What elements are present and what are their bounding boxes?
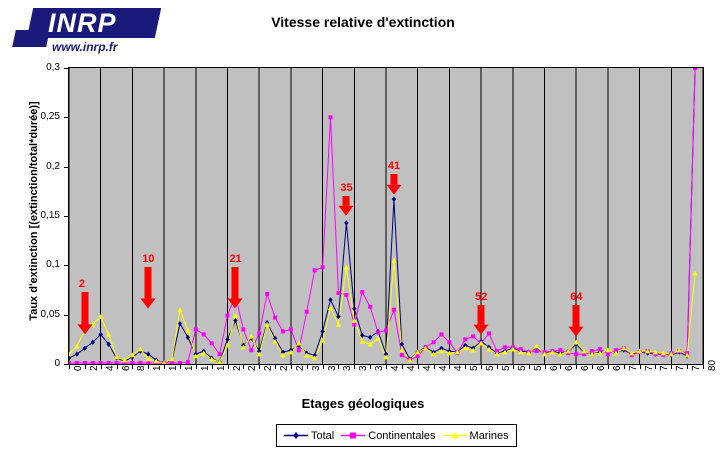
x-tick-label: 80: [707, 360, 718, 371]
x-tick-mark: [307, 365, 308, 369]
logo-url: www.inrp.fr: [52, 40, 118, 54]
x-tick-mark: [465, 365, 466, 369]
x-axis-title: Etages géologiques: [0, 396, 726, 411]
x-tick-mark: [338, 365, 339, 369]
x-tick-mark: [703, 365, 704, 369]
legend-swatch-continentales: [341, 430, 365, 441]
x-tick-label: 2: [89, 365, 100, 371]
x-tick-mark: [640, 365, 641, 369]
legend-swatch-total: [284, 430, 308, 441]
x-tick-mark: [291, 365, 292, 369]
chart-title: Vitesse relative d'extinction: [0, 14, 726, 30]
legend-label-marines: Marines: [470, 430, 509, 442]
y-tick-label: 0,1: [14, 260, 60, 270]
y-tick-label: 0: [14, 359, 60, 369]
x-tick-mark: [529, 365, 530, 369]
annotation-arrow-52: [470, 305, 492, 335]
annotation-label-41: 41: [388, 160, 400, 172]
annotation-arrow-41: [383, 174, 405, 195]
x-tick-mark: [434, 365, 435, 369]
legend-item-total[interactable]: Total: [284, 430, 334, 442]
down-arrow-icon: [137, 267, 159, 308]
x-tick-mark: [402, 365, 403, 369]
down-arrow-icon: [224, 267, 246, 308]
x-tick-mark: [560, 365, 561, 369]
down-arrow-icon: [565, 305, 587, 337]
chart-legend: Total Continentales Marines: [276, 424, 517, 447]
annotation-label-52: 52: [475, 291, 487, 303]
annotation-arrow-10: [137, 267, 159, 308]
y-tick-label: 0,25: [14, 112, 60, 122]
y-tick-label: 0,05: [14, 310, 60, 320]
x-tick-mark: [259, 365, 260, 369]
x-tick-label: 4: [105, 365, 116, 371]
x-tick-mark: [354, 365, 355, 369]
x-tick-mark: [164, 365, 165, 369]
chart-page: INRP www.inrp.fr Vitesse relative d'exti…: [0, 0, 726, 455]
x-tick-mark: [671, 365, 672, 369]
y-tick-label: 0,15: [14, 211, 60, 221]
x-tick-label: 8: [136, 365, 147, 371]
x-tick-mark: [180, 365, 181, 369]
x-tick-mark: [386, 365, 387, 369]
x-tick-mark: [687, 365, 688, 369]
x-tick-mark: [85, 365, 86, 369]
down-arrow-icon: [335, 196, 357, 216]
x-tick-mark: [101, 365, 102, 369]
x-tick-mark: [196, 365, 197, 369]
down-arrow-icon: [74, 292, 96, 334]
annotation-arrow-21: [224, 267, 246, 308]
x-tick-mark: [117, 365, 118, 369]
x-tick-mark: [275, 365, 276, 369]
x-tick-mark: [513, 365, 514, 369]
annotation-label-64: 64: [570, 291, 582, 303]
annotation-label-10: 10: [142, 253, 154, 265]
x-tick-mark: [576, 365, 577, 369]
x-tick-mark: [132, 365, 133, 369]
y-tick-label: 0,3: [14, 63, 60, 73]
x-tick-mark: [148, 365, 149, 369]
x-tick-mark: [624, 365, 625, 369]
x-tick-mark: [592, 365, 593, 369]
legend-swatch-marines: [443, 430, 467, 441]
down-arrow-icon: [383, 174, 405, 195]
legend-item-continentales[interactable]: Continentales: [341, 430, 435, 442]
x-tick-mark: [655, 365, 656, 369]
x-tick-mark: [212, 365, 213, 369]
x-tick-mark: [497, 365, 498, 369]
down-arrow-icon: [470, 305, 492, 335]
x-tick-mark: [69, 365, 70, 369]
legend-label-total: Total: [311, 430, 334, 442]
x-tick-mark: [228, 365, 229, 369]
annotation-arrow-2: [74, 292, 96, 334]
legend-item-marines[interactable]: Marines: [443, 430, 509, 442]
x-tick-mark: [608, 365, 609, 369]
annotation-arrow-64: [565, 305, 587, 337]
x-tick-mark: [418, 365, 419, 369]
annotation-label-21: 21: [229, 253, 241, 265]
plot-area: [68, 67, 704, 365]
legend-label-continentales: Continentales: [368, 430, 435, 442]
x-tick-mark: [323, 365, 324, 369]
x-tick-mark: [481, 365, 482, 369]
annotation-arrow-35: [335, 196, 357, 216]
chart-canvas: [69, 68, 703, 364]
annotation-label-35: 35: [340, 182, 352, 194]
x-tick-mark: [243, 365, 244, 369]
x-tick-mark: [545, 365, 546, 369]
x-tick-label: 0: [73, 365, 84, 371]
annotation-label-2: 2: [79, 278, 85, 290]
x-tick-mark: [370, 365, 371, 369]
y-tick-label: 0,2: [14, 162, 60, 172]
x-tick-label: 6: [121, 365, 132, 371]
x-tick-mark: [449, 365, 450, 369]
